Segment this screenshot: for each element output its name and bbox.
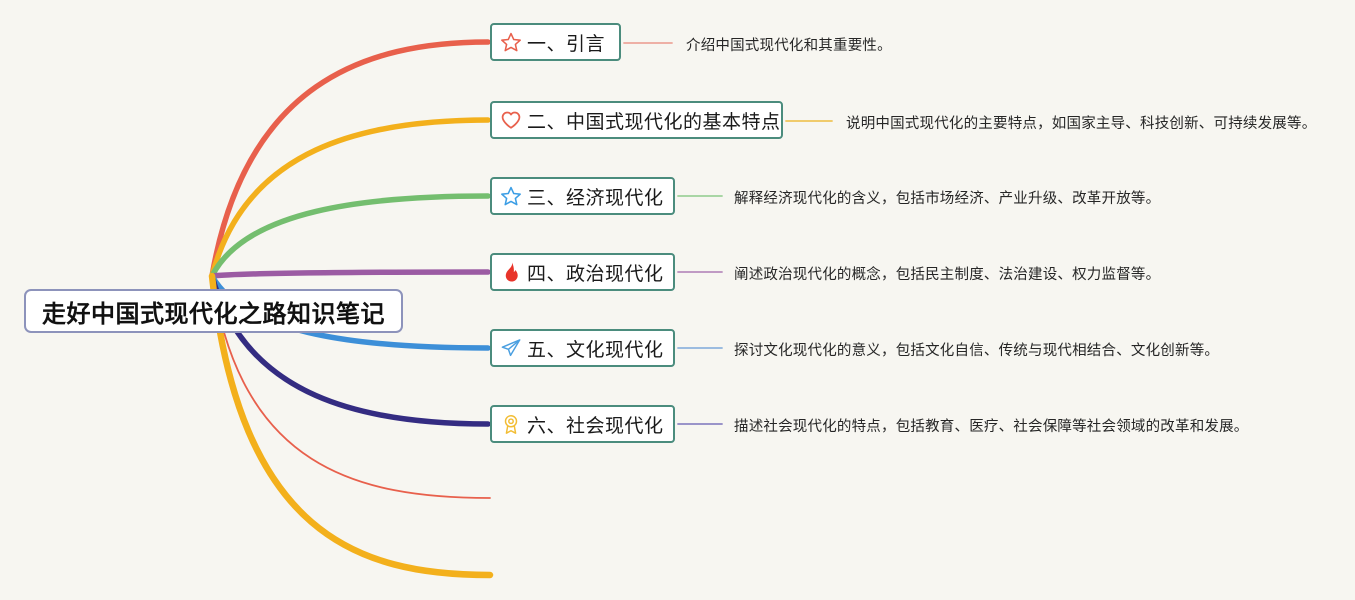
branch-description-6: 描述社会现代化的特点，包括教育、医疗、社会保障等社会领域的改革和发展。 <box>734 415 1249 436</box>
star-outline-blue-icon <box>500 185 522 207</box>
branch-node-label: 三、经济现代化 <box>527 183 664 210</box>
branch-node-label: 一、引言 <box>527 29 605 56</box>
branch-node-3[interactable]: 三、经济现代化 <box>490 177 675 215</box>
branch-description-3: 解释经济现代化的含义，包括市场经济、产业升级、改革开放等。 <box>734 187 1160 208</box>
branch-node-6[interactable]: 六、社会现代化 <box>490 405 675 443</box>
branch-description-5: 探讨文化现代化的意义，包括文化自信、传统与现代相结合、文化创新等。 <box>734 339 1219 360</box>
branch-curve-3 <box>212 196 488 276</box>
branch-node-1[interactable]: 一、引言 <box>490 23 621 61</box>
mindmap-canvas: 走好中国式现代化之路知识笔记 一、引言介绍中国式现代化和其重要性。二、中国式现代… <box>0 0 1355 600</box>
branch-description-4: 阐述政治现代化的概念，包括民主制度、法治建设、权力监督等。 <box>734 263 1160 284</box>
star-outline-icon <box>500 31 522 53</box>
paper-plane-icon <box>500 337 522 359</box>
branch-curve-1 <box>212 42 488 276</box>
fire-icon <box>500 261 522 283</box>
root-node-label: 走好中国式现代化之路知识笔记 <box>42 294 385 329</box>
medal-icon <box>500 413 522 435</box>
heart-outline-icon <box>500 109 522 131</box>
branch-node-2[interactable]: 二、中国式现代化的基本特点 <box>490 101 783 139</box>
branch-description-1: 介绍中国式现代化和其重要性。 <box>686 34 892 55</box>
root-node[interactable]: 走好中国式现代化之路知识笔记 <box>24 289 403 333</box>
branch-node-label: 五、文化现代化 <box>527 335 664 362</box>
branch-description-2: 说明中国式现代化的主要特点，如国家主导、科技创新、可持续发展等。 <box>846 112 1316 133</box>
branch-node-label: 六、社会现代化 <box>527 411 664 438</box>
branch-curve-4 <box>212 272 488 276</box>
branch-node-label: 二、中国式现代化的基本特点 <box>527 107 781 134</box>
branch-curve-2 <box>212 120 488 276</box>
branch-node-label: 四、政治现代化 <box>527 259 664 286</box>
branch-node-5[interactable]: 五、文化现代化 <box>490 329 675 367</box>
branch-node-4[interactable]: 四、政治现代化 <box>490 253 675 291</box>
